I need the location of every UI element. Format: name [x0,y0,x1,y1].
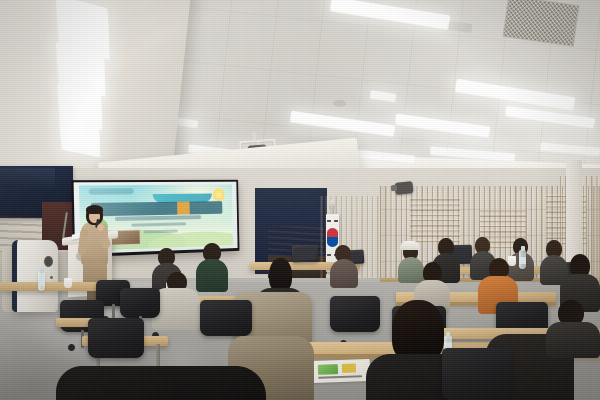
white-cap-icon [400,241,420,250]
chair-backrest [120,288,160,318]
attendee-foreground-bottom [56,366,266,400]
chair-post [112,304,115,318]
navy-banner-left-upper [0,168,55,188]
handout-graphic [342,363,356,372]
slide-subtitle-text [115,216,201,222]
lecture-room-photo [0,0,600,400]
chair[interactable] [120,288,160,318]
wood-slat-block [410,196,460,242]
ceiling-sprinkler-icon [333,100,346,107]
attendee-torso [330,259,358,288]
chair[interactable] [88,318,144,358]
paper-cup[interactable] [64,278,72,288]
slide-subtitle-text [131,222,186,227]
slide-organization-badge [89,188,134,195]
chair-backrest [442,348,512,400]
attendee-green-jacket [196,243,228,291]
chair-caster [68,344,75,351]
water-bottle[interactable] [38,272,45,291]
attendee-head [269,258,292,292]
presenter-hair-front [86,205,103,214]
attendee [330,245,358,287]
handout-graphic [318,364,338,375]
ceiling-speaker-icon [394,181,413,195]
air-purifier-dial-icon[interactable] [44,256,53,267]
presenter-hand [97,224,104,231]
slide-sun-icon [213,189,225,202]
attendee-torso [56,366,266,400]
attendee-torso [546,322,600,358]
chair-backrest [88,318,144,358]
handout-text-line [318,375,362,379]
flag-trigram [327,220,331,222]
air-purifier-indicator-icon [50,276,53,279]
attendee-torso [196,259,228,292]
water-bottle[interactable] [519,250,526,269]
handout-brochure[interactable] [312,359,371,383]
chair[interactable] [442,348,512,400]
attendee-head [392,300,444,362]
attendee [546,300,600,356]
flag-trigram [334,220,338,222]
